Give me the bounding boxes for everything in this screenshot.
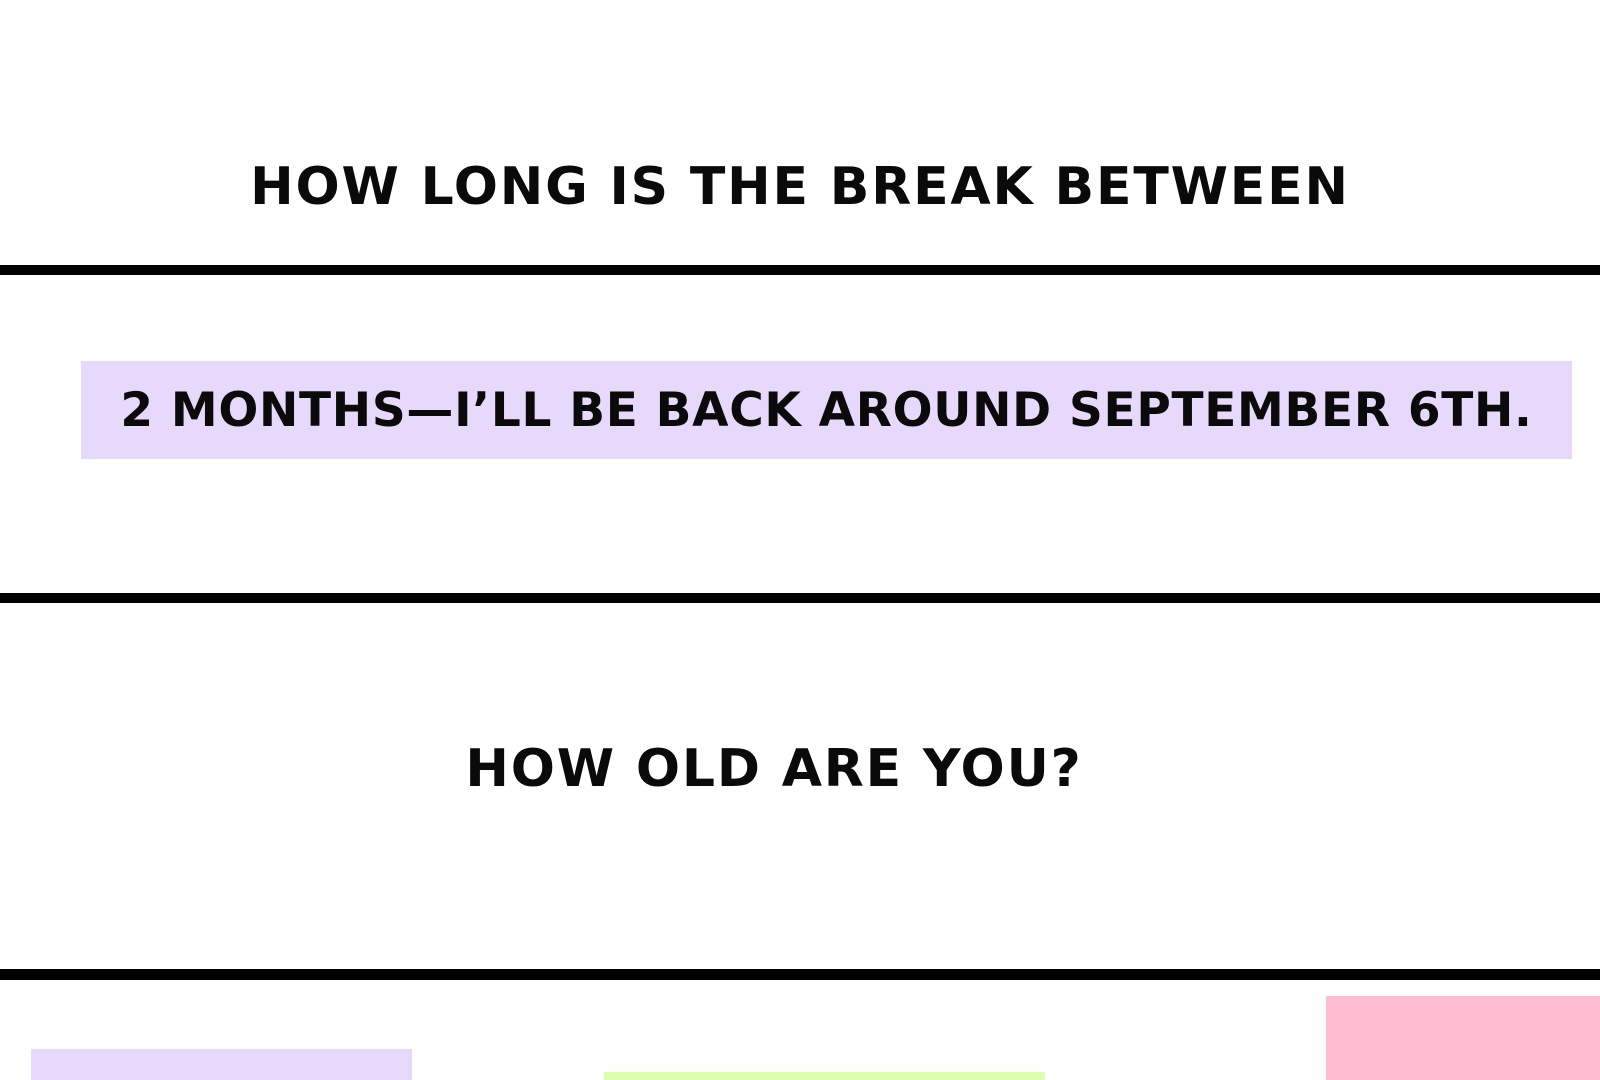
- partial-green-block: [604, 1072, 1045, 1080]
- qa-slide-canvas: HOW LONG IS THE BREAK BETWEEN SEASONS? 2…: [0, 0, 1600, 1080]
- question-2-title: HOW OLD ARE YOU?: [0, 738, 1600, 800]
- divider-rule-middle: [0, 593, 1600, 603]
- answer-text: 2 MONTHS—I’LL BE BACK AROUND SEPTEMBER 6…: [81, 361, 1572, 459]
- question-1-title: HOW LONG IS THE BREAK BETWEEN SEASONS?: [0, 22, 1600, 550]
- answer-highlight-band: 2 MONTHS—I’LL BE BACK AROUND SEPTEMBER 6…: [81, 361, 1572, 459]
- question-1-title-line-1: HOW LONG IS THE BREAK BETWEEN: [0, 154, 1600, 220]
- divider-rule-bottom: [0, 969, 1600, 980]
- comment-card-pink: HE THINKS THEY ARE: [1326, 996, 1600, 1080]
- divider-rule-top: [0, 265, 1600, 275]
- comment-card-text: HE THINKS THEY ARE: [1326, 998, 1600, 1080]
- partial-lavender-block: [31, 1049, 412, 1080]
